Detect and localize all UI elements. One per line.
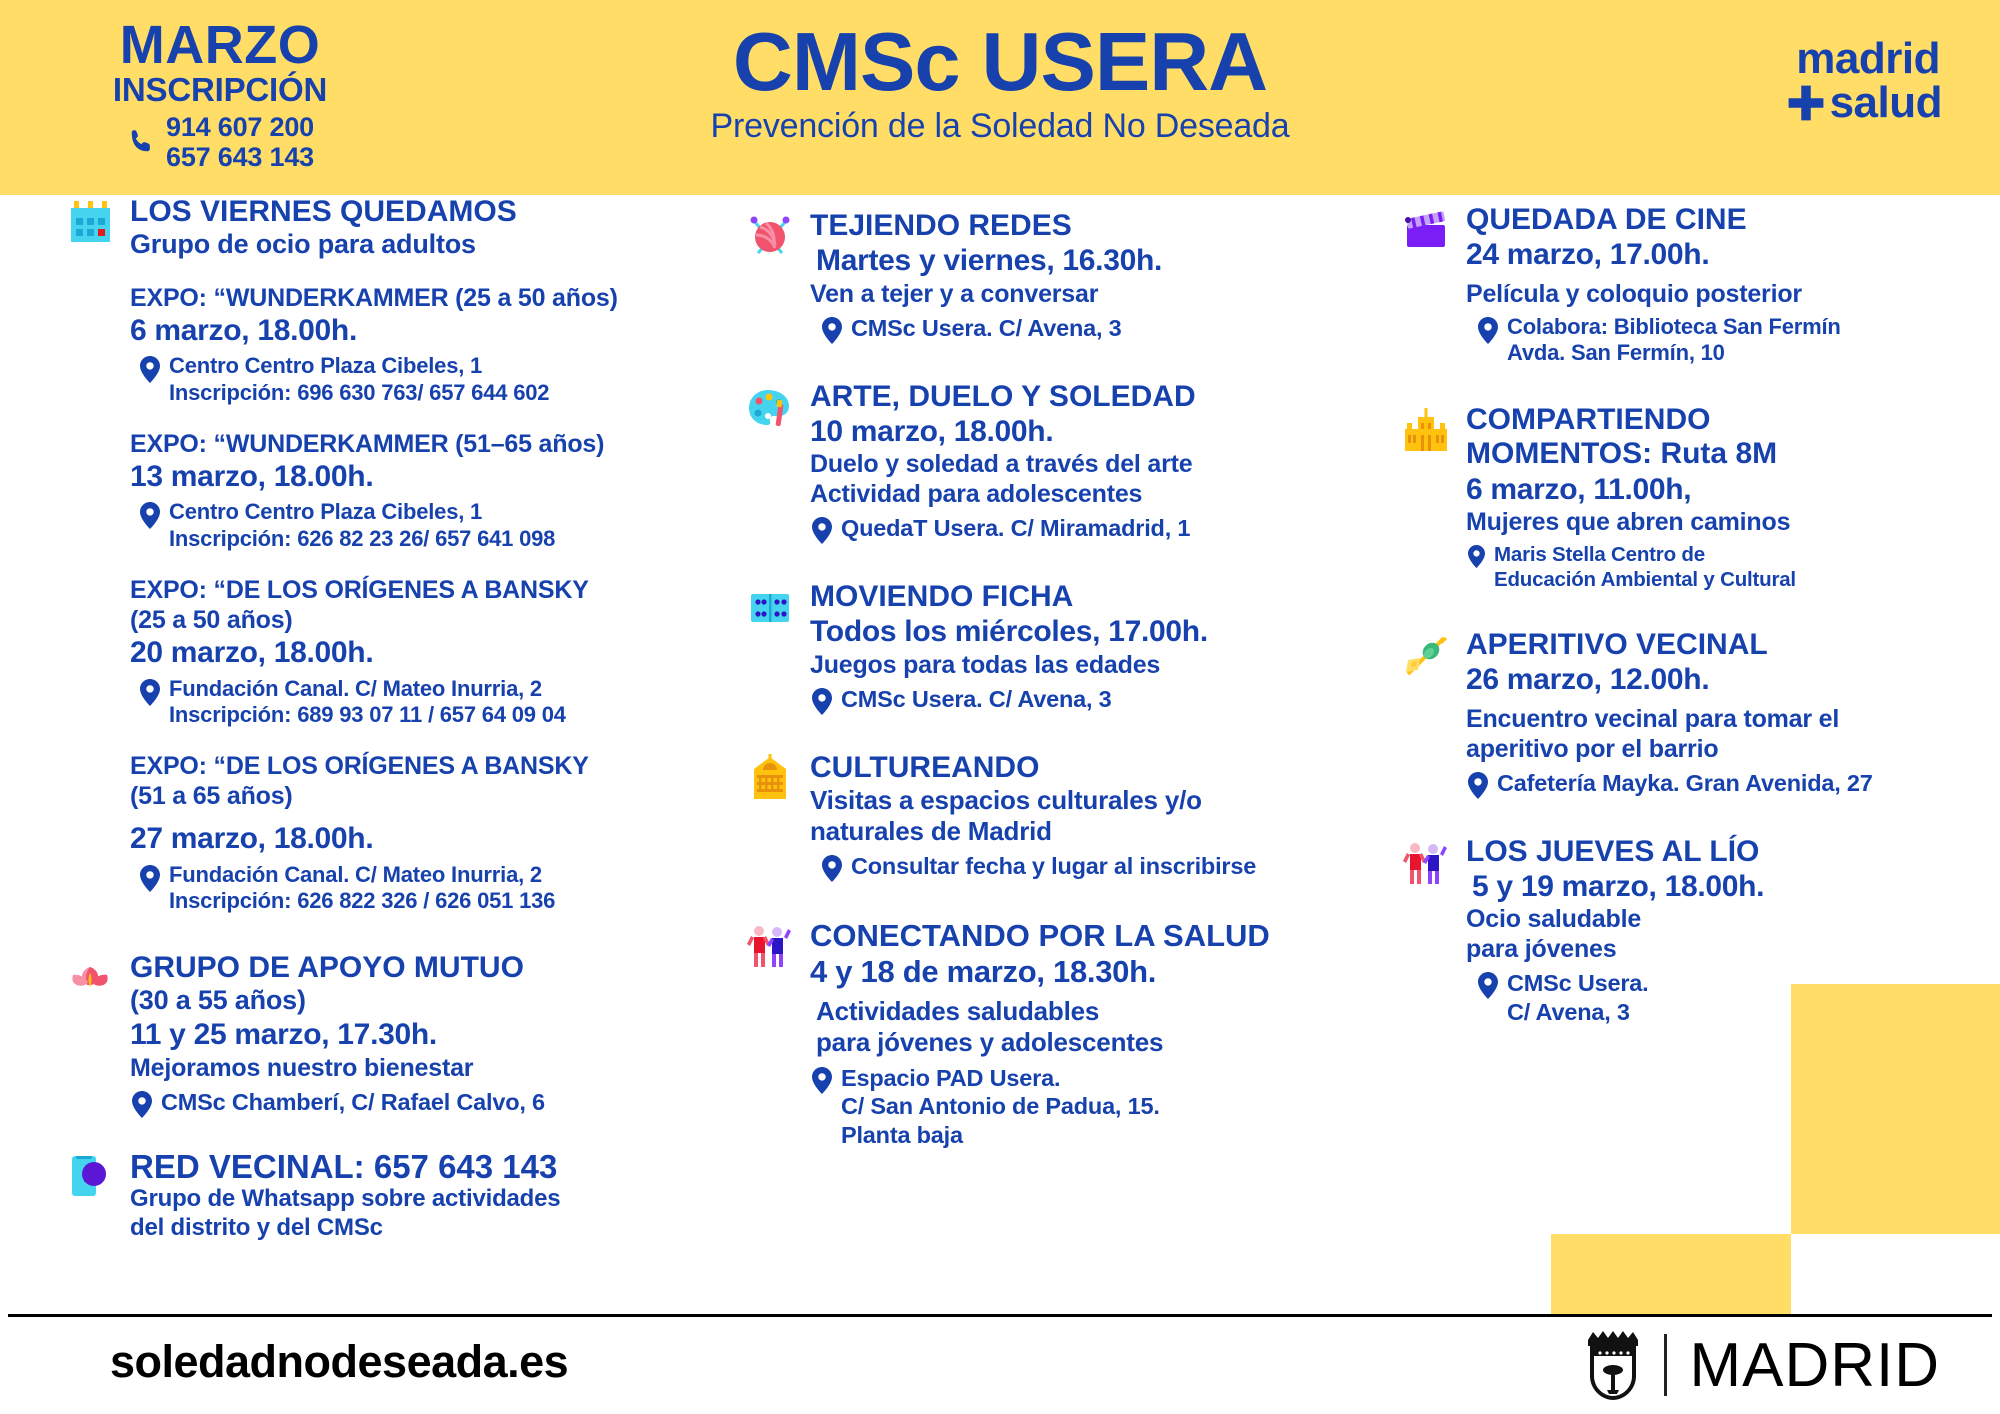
location-line-2: C/ San Antonio de Padua, 15. [841,1092,1160,1121]
expo-name-line-2: (25 a 50 años) [130,605,664,635]
poster-header: MARZO INSCRIPCIÓN 914 607 200 657 643 14… [0,0,2000,195]
cross-icon [1787,84,1825,122]
location-line-1: Espacio PAD Usera. [841,1064,1160,1093]
block-head: COMPARTIENDO MOMENTOS: Ruta 8M 6 marzo, … [1400,403,1960,592]
column-3: QUEDADA DE CINE 24 marzo, 17.00h. Pelícu… [1400,195,1960,1026]
location-line-1: Fundación Canal. C/ Mateo Inurria, 2 [169,676,566,703]
location-row: Colabora: Biblioteca San Fermín Avda. Sa… [1466,314,1960,368]
activity-compartiendo-momentos: COMPARTIENDO MOMENTOS: Ruta 8M 6 marzo, … [1400,403,1960,592]
location-row: Fundación Canal. C/ Mateo Inurria, 2 Ins… [130,676,664,730]
activity-title: CONECTANDO POR LA SALUD [810,918,1364,953]
expo-name-line-2: (51 a 65 años) [130,781,664,811]
block-text: COMPARTIENDO MOMENTOS: Ruta 8M 6 marzo, … [1466,403,1960,592]
activity-cultureando: CULTUREANDO Visitas a espacios culturale… [744,751,1364,883]
madrid-salud-logo: madrid salud [1787,38,1942,124]
activity-title: APERITIVO VECINAL [1466,628,1960,662]
location-text: Colabora: Biblioteca San Fermín Avda. Sa… [1507,314,1841,368]
footer-logo-divider [1664,1334,1667,1396]
activity-description-line-1: Duelo y soledad a través del arte [810,449,1364,479]
header-phone-2: 657 643 143 [166,142,314,172]
block-text: QUEDADA DE CINE 24 marzo, 17.00h. Pelícu… [1466,203,1960,367]
activity-title: MOVIENDO FICHA [810,580,1364,614]
block-text: MOVIENDO FICHA Todos los miércoles, 17.0… [810,580,1364,715]
activity-description-line-1: Encuentro vecinal para tomar el [1466,704,1960,734]
location-pin-icon [822,317,842,344]
castle-icon [1400,405,1452,457]
location-pin-icon [1468,545,1485,568]
location-line-1: Centro Centro Plaza Cibeles, 1 [169,499,555,526]
location-text: Fundación Canal. C/ Mateo Inurria, 2 Ins… [169,862,555,916]
location-line-2: Inscripción: 696 630 763/ 657 644 602 [169,380,549,407]
block-text: TEJIENDO REDES Martes y viernes, 16.30h.… [810,209,1364,344]
location-text: Centro Centro Plaza Cibeles, 1 Inscripci… [169,353,549,407]
activity-date: 26 marzo, 12.00h. [1466,662,1960,697]
block-head: MOVIENDO FICHA Todos los miércoles, 17.0… [744,580,1364,715]
activity-tejiendo-redes: TEJIENDO REDES Martes y viernes, 16.30h.… [744,209,1364,344]
location-line-1: CMSc Chamberí, C/ Rafael Calvo, 6 [161,1088,545,1117]
block-text: LOS VIERNES QUEDAMOS Grupo de ocio para … [130,195,664,261]
logo-salud-row: salud [1787,82,1942,124]
activity-quedada-de-cine: QUEDADA DE CINE 24 marzo, 17.00h. Pelícu… [1400,203,1960,367]
whatsapp-phone-icon [64,1150,116,1202]
activity-title: RED VECINAL: 657 643 143 [130,1148,664,1186]
location-row: Centro Centro Plaza Cibeles, 1 Inscripci… [130,353,664,407]
location-line-1: CMSc Usera. C/ Avena, 3 [841,685,1112,714]
activity-title: QUEDADA DE CINE [1466,203,1960,237]
block-head: RED VECINAL: 657 643 143 Grupo de Whatsa… [64,1148,664,1243]
activity-description-line-1: Ocio saludable [1466,904,1960,934]
activity-description-line-2: del distrito y del CMSc [130,1214,664,1243]
page-title: CMSc USERA [0,18,2000,105]
lotus-icon [64,953,116,1005]
column-2: TEJIENDO REDES Martes y viernes, 16.30h.… [744,195,1364,1150]
madrid-crest-icon [1584,1328,1642,1402]
activity-los-jueves-al-lio: LOS JUEVES AL LÍO 5 y 19 marzo, 18.00h. … [1400,835,1960,1027]
location-line-2: C/ Avena, 3 [1507,998,1648,1027]
activity-date: 24 marzo, 17.00h. [1466,237,1960,272]
block-text: ARTE, DUELO Y SOLEDAD 10 marzo, 18.00h. … [810,380,1364,545]
block-head: CONECTANDO POR LA SALUD 4 y 18 de marzo,… [744,918,1364,1149]
expo-date: 6 marzo, 18.00h. [130,313,664,348]
block-head: APERITIVO VECINAL 26 marzo, 12.00h. Encu… [1400,628,1960,799]
page-subtitle: Prevención de la Soledad No Deseada [0,107,2000,146]
block-text: RED VECINAL: 657 643 143 Grupo de Whatsa… [130,1148,664,1243]
logo-madrid-text: madrid [1787,38,1942,80]
palette-icon [744,382,796,434]
expo-entry: EXPO: “WUNDERKAMMER (51–65 años) 13 marz… [64,429,664,553]
block-text: LOS JUEVES AL LÍO 5 y 19 marzo, 18.00h. … [1466,835,1960,1027]
location-pin-icon [140,679,160,706]
footer-divider-rule [8,1314,1992,1317]
activity-description-line-1: Grupo de Whatsapp sobre actividades [130,1185,664,1214]
expo-date: 20 marzo, 18.00h. [130,635,664,670]
location-text: Maris Stella Centro de Educación Ambient… [1494,542,1796,592]
location-row: Fundación Canal. C/ Mateo Inurria, 2 Ins… [130,862,664,916]
activity-los-viernes-quedamos: LOS VIERNES QUEDAMOS Grupo de ocio para … [64,195,664,915]
location-text: Fundación Canal. C/ Mateo Inurria, 2 Ins… [169,676,566,730]
location-row: Consultar fecha y lugar al inscribirse [810,852,1364,882]
activity-description-line-1: Visitas a espacios culturales y/o [810,785,1364,816]
location-pin-icon [1468,772,1488,799]
block-head: LOS VIERNES QUEDAMOS Grupo de ocio para … [64,195,664,261]
activity-title: CULTUREANDO [810,751,1364,785]
location-pin-icon [812,517,832,544]
location-line-2: Inscripción: 689 93 07 11 / 657 64 09 04 [169,702,566,729]
location-line-1: Colabora: Biblioteca San Fermín [1507,314,1841,341]
activity-title: GRUPO DE APOYO MUTUO [130,951,664,985]
calendar-icon [64,197,116,249]
expo-name-line-1: EXPO: “DE LOS ORÍGENES A BANSKY [130,575,664,605]
location-line-1: Cafetería Mayka. Gran Avenida, 27 [1497,769,1873,798]
logo-salud-text: salud [1830,82,1942,124]
location-line-1: Consultar fecha y lugar al inscribirse [851,852,1256,881]
madrid-city-logo: MADRID [1584,1328,1940,1402]
activity-description: Película y coloquio posterior [1466,279,1960,309]
activity-description-line-2: naturales de Madrid [810,816,1364,847]
location-line-2: Inscripción: 626 822 326 / 626 051 136 [169,888,555,915]
activity-date: 10 marzo, 18.00h. [810,414,1364,449]
block-text: APERITIVO VECINAL 26 marzo, 12.00h. Encu… [1466,628,1960,799]
location-line-1: Fundación Canal. C/ Mateo Inurria, 2 [169,862,555,889]
block-head: QUEDADA DE CINE 24 marzo, 17.00h. Pelícu… [1400,203,1960,367]
location-line-2: Avda. San Fermín, 10 [1507,340,1841,367]
location-row: CMSc Usera. C/ Avena, 3 [810,685,1364,715]
block-head: GRUPO DE APOYO MUTUO (30 a 55 años) 11 y… [64,951,664,1117]
people-dancing-icon [744,920,796,972]
activity-age-range: (30 a 55 años) [130,985,664,1017]
block-text: GRUPO DE APOYO MUTUO (30 a 55 años) 11 y… [130,951,664,1117]
location-pin-icon [140,865,160,892]
activity-title-line-1: COMPARTIENDO [1466,403,1960,437]
activity-subtitle: Grupo de ocio para adultos [130,229,664,261]
footer-madrid-text: MADRID [1689,1330,1940,1401]
footer-website-url[interactable]: soledadnodeseada.es [110,1336,568,1388]
location-pin-icon [1478,972,1498,999]
location-pin-icon [140,356,160,383]
location-text: Centro Centro Plaza Cibeles, 1 Inscripci… [169,499,555,553]
block-text: CULTUREANDO Visitas a espacios culturale… [810,751,1364,883]
activity-description: Mujeres que abren caminos [1466,507,1960,537]
location-text: CMSc Usera. C/ Avena, 3 [1507,969,1648,1026]
activity-date: Martes y viernes, 16.30h. [810,243,1364,278]
activity-grupo-de-apoyo-mutuo: GRUPO DE APOYO MUTUO (30 a 55 años) 11 y… [64,951,664,1117]
clapperboard-icon [1400,205,1452,257]
yarn-icon [744,211,796,263]
activity-date: 11 y 25 marzo, 17.30h. [130,1017,664,1052]
location-row: Centro Centro Plaza Cibeles, 1 Inscripci… [130,499,664,553]
activity-date: 4 y 18 de marzo, 18.30h. [810,954,1364,991]
people-dancing-icon [1400,837,1452,889]
location-line-2: Educación Ambiental y Cultural [1494,567,1796,592]
column-1: LOS VIERNES QUEDAMOS Grupo de ocio para … [64,195,664,1243]
block-head: CULTUREANDO Visitas a espacios culturale… [744,751,1364,883]
decorative-square-footer [1551,1300,1791,1314]
location-row: Maris Stella Centro de Educación Ambient… [1466,542,1960,592]
location-row: Cafetería Mayka. Gran Avenida, 27 [1466,769,1960,799]
location-line-1: CMSc Usera. [1507,969,1648,998]
activity-description-line-2: aperitivo por el barrio [1466,734,1960,764]
block-head: TEJIENDO REDES Martes y viernes, 16.30h.… [744,209,1364,344]
activity-title: LOS VIERNES QUEDAMOS [130,195,664,229]
activity-date: 6 marzo, 11.00h, [1466,472,1960,507]
activity-date: 5 y 19 marzo, 18.00h. [1466,869,1960,904]
location-line-1: Maris Stella Centro de [1494,542,1796,567]
location-pin-icon [132,1091,152,1118]
activity-aperitivo-vecinal: APERITIVO VECINAL 26 marzo, 12.00h. Encu… [1400,628,1960,799]
expo-date: 13 marzo, 18.00h. [130,459,664,494]
activity-description-line-2: Actividad para adolescentes [810,479,1364,509]
activity-title: ARTE, DUELO Y SOLEDAD [810,380,1364,414]
location-row: Espacio PAD Usera. C/ San Antonio de Pad… [810,1064,1364,1150]
location-row: CMSc Usera. C/ Avena, 3 [1466,969,1960,1026]
activity-date: Todos los miércoles, 17.00h. [810,614,1364,649]
domino-icon [744,582,796,634]
location-line-1: Centro Centro Plaza Cibeles, 1 [169,353,549,380]
block-text: CONECTANDO POR LA SALUD 4 y 18 de marzo,… [810,918,1364,1149]
expo-entry: EXPO: “DE LOS ORÍGENES A BANSKY (25 a 50… [64,575,664,729]
activity-arte-duelo-y-soledad: ARTE, DUELO Y SOLEDAD 10 marzo, 18.00h. … [744,380,1364,545]
header-title-block: CMSc USERA Prevención de la Soledad No D… [0,18,2000,146]
activity-title: TEJIENDO REDES [810,209,1364,243]
location-pin-icon [140,502,160,529]
location-pin-icon [812,1067,832,1094]
skewer-icon [1400,630,1452,682]
museum-icon [744,753,796,805]
expo-name: EXPO: “WUNDERKAMMER (51–65 años) [130,429,664,459]
activity-title-line-2: MOMENTOS: Ruta 8M [1466,437,1960,471]
block-head: ARTE, DUELO Y SOLEDAD 10 marzo, 18.00h. … [744,380,1364,545]
location-row: CMSc Chamberí, C/ Rafael Calvo, 6 [130,1088,664,1118]
activity-red-vecinal: RED VECINAL: 657 643 143 Grupo de Whatsa… [64,1148,664,1243]
location-text: Espacio PAD Usera. C/ San Antonio de Pad… [841,1064,1160,1150]
activity-description: Ven a tejer y a conversar [810,279,1364,309]
expo-entry: EXPO: “WUNDERKAMMER (25 a 50 años) 6 mar… [64,283,664,407]
location-row: CMSc Usera. C/ Avena, 3 [810,314,1364,344]
location-line-1: CMSc Usera. C/ Avena, 3 [851,314,1122,343]
activity-moviendo-ficha: MOVIENDO FICHA Todos los miércoles, 17.0… [744,580,1364,715]
location-row: QuedaT Usera. C/ Miramadrid, 1 [810,514,1364,544]
activity-description-line-1: Actividades saludables [810,996,1364,1027]
location-line-2: Inscripción: 626 82 23 26/ 657 641 098 [169,526,555,553]
expo-date: 27 marzo, 18.00h. [130,821,664,856]
location-line-3: Planta baja [841,1121,1160,1150]
location-pin-icon [1478,317,1498,344]
location-pin-icon [822,855,842,882]
expo-name: EXPO: “WUNDERKAMMER (25 a 50 años) [130,283,664,313]
activity-description: Mejoramos nuestro bienestar [130,1053,664,1083]
activity-title: LOS JUEVES AL LÍO [1466,835,1960,869]
activity-description-line-2: para jóvenes y adolescentes [810,1027,1364,1058]
poster-body: LOS VIERNES QUEDAMOS Grupo de ocio para … [0,195,2000,1295]
block-head: LOS JUEVES AL LÍO 5 y 19 marzo, 18.00h. … [1400,835,1960,1027]
location-pin-icon [812,688,832,715]
activity-description: Juegos para todas las edades [810,650,1364,680]
activity-conectando-por-la-salud: CONECTANDO POR LA SALUD 4 y 18 de marzo,… [744,918,1364,1149]
expo-entry: EXPO: “DE LOS ORÍGENES A BANSKY (51 a 65… [64,751,664,915]
activity-description-line-2: para jóvenes [1466,934,1960,964]
expo-name-line-1: EXPO: “DE LOS ORÍGENES A BANSKY [130,751,664,781]
location-line-1: QuedaT Usera. C/ Miramadrid, 1 [841,514,1190,543]
